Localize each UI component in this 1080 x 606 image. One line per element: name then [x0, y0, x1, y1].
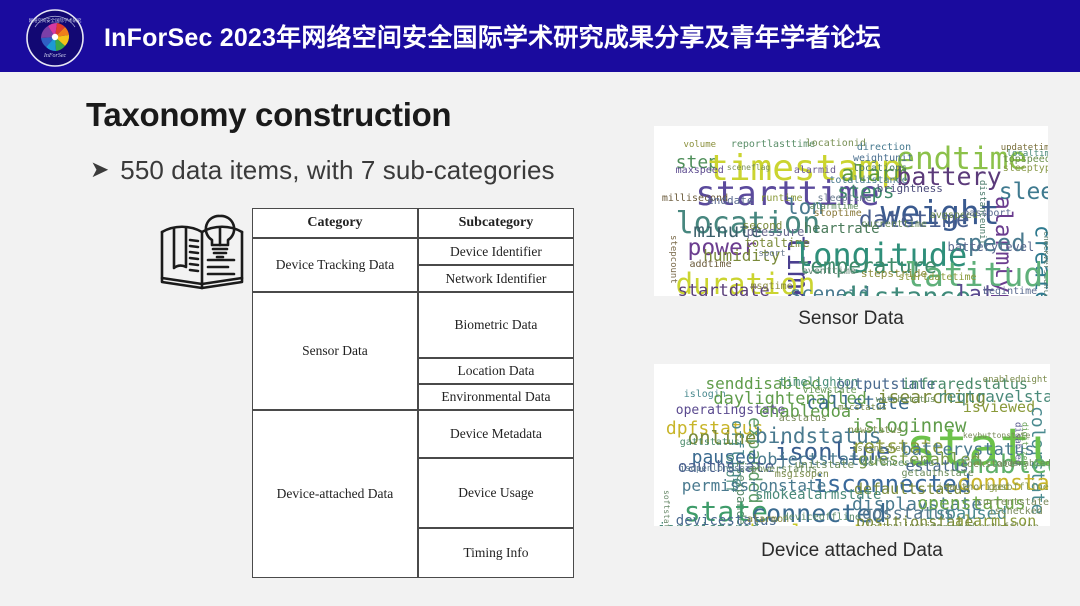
wordcloud-word: locations	[853, 164, 907, 174]
wordcloud-device-caption: Device attached Data	[654, 540, 1050, 562]
svg-text:网络空间安全国际学术研究: 网络空间安全国际学术研究	[29, 17, 82, 24]
wordcloud-word: stoptime	[814, 209, 862, 219]
wordcloud-word: sport	[758, 250, 785, 259]
wordcloud-word: enddate	[707, 195, 753, 206]
category-cell: Sensor Data	[252, 292, 418, 410]
wordcloud-word: alertoffline	[967, 523, 1039, 526]
table-header-row: Category Subcategory	[252, 208, 574, 238]
header-band: InForSec 网络空间安全国际学术研究 InForSec 2023年网络空间…	[0, 0, 1080, 72]
subcategory-cell: Network Identifier	[418, 265, 574, 292]
wordcloud-device-attached-data: senddisabledtimelightonoutputstateinfrar…	[654, 364, 1050, 526]
wordcloud-word: micstatus	[838, 404, 887, 413]
subcategory-cell: Location Data	[418, 358, 574, 384]
wordcloud-word: gpsoffline	[989, 483, 1049, 493]
subcategory-cell: Device Usage	[418, 458, 574, 528]
table-row: Device-attached Data Device Metadata	[252, 410, 574, 458]
wordcloud-word: isviewed	[963, 400, 1035, 415]
wordcloud-word: sleeptype	[1003, 164, 1048, 174]
wordcloud-sensor-caption: Sensor Data	[654, 308, 1048, 330]
category-cell: Device Tracking Data	[252, 238, 418, 292]
wordcloud-word: obdenabled	[997, 460, 1050, 469]
column-header-category: Category	[252, 208, 418, 238]
book-lightbulb-icon	[158, 208, 246, 296]
wordcloud-word: isopenlongseat	[680, 465, 756, 474]
svg-text:InForSec: InForSec	[43, 53, 67, 59]
subcategory-cell: Biometric Data	[418, 292, 574, 358]
subcategory-cell: Device Identifier	[418, 238, 574, 265]
wordcloud-word: acstatus	[779, 414, 827, 424]
header-title: InForSec 2023年网络空间安全国际学术研究成果分享及青年学者论坛	[104, 0, 881, 72]
bullet-item: ➤ 550 data items, with 7 sub-categories	[90, 155, 555, 186]
subcategory-cell: Timing Info	[418, 528, 574, 578]
category-cell: Device-attached Data	[252, 410, 418, 578]
wordcloud-sensor-data: volumereportlasttimelocationiddirectione…	[654, 126, 1048, 296]
wordcloud-word: keybuttonstate	[963, 432, 1030, 440]
wordcloud-word: begintime	[983, 287, 1037, 296]
taxonomy-table: Category Subcategory Device Tracking Dat…	[252, 208, 574, 578]
wordcloud-word: msgtime	[751, 282, 793, 292]
arrow-bullet-icon: ➤	[90, 158, 109, 181]
wordcloud-word: eventtime	[802, 267, 856, 277]
subcategory-cell: Device Metadata	[418, 410, 574, 458]
table-row: Device Tracking Data Device Identifier	[252, 238, 574, 265]
wordcloud-word: sceneflag	[727, 164, 770, 172]
column-header-subcategory: Subcategory	[418, 208, 574, 238]
wordcloud-word: newstatus	[848, 426, 902, 436]
wordcloud-word: currenttime	[861, 220, 927, 230]
subcategory-cell: Environmental Data	[418, 384, 574, 410]
wordcloud-word: batterylevel	[948, 241, 1035, 253]
bullet-label: 550 data items, with 7 sub-categories	[120, 155, 554, 186]
wordcloud-word: distance	[841, 284, 971, 296]
wordcloud-word: enablednight	[983, 376, 1048, 385]
inforsec-logo: InForSec 网络空间安全国际学术研究	[26, 9, 84, 67]
table-row: Sensor Data Biometric Data	[252, 292, 574, 358]
page-title: Taxonomy construction	[86, 96, 451, 134]
